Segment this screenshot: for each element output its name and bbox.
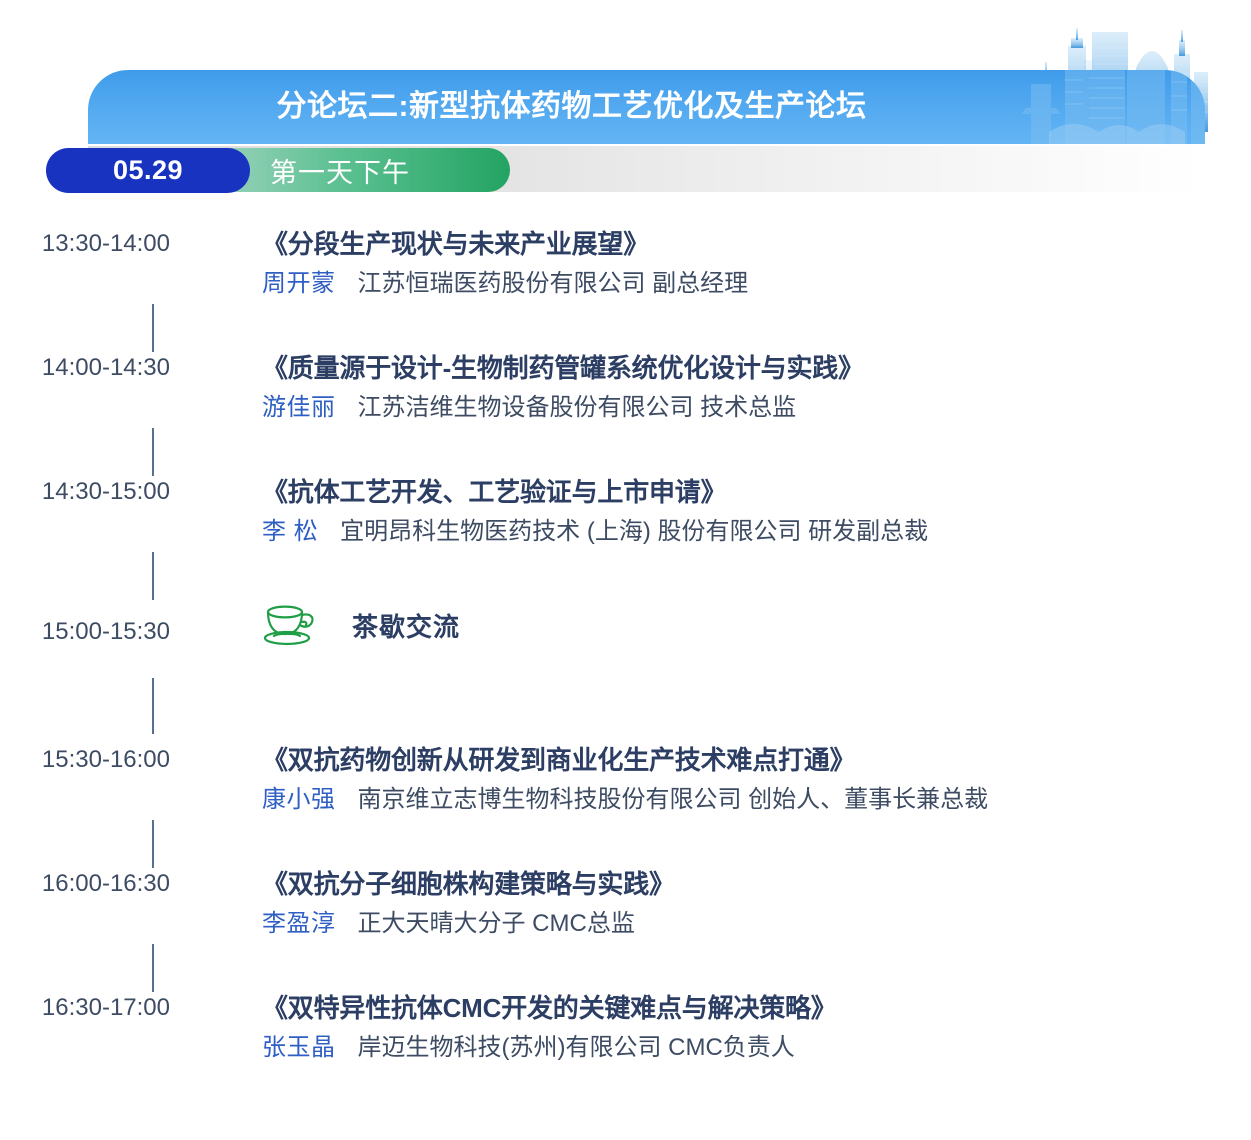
speaker-name: 周开蒙: [262, 270, 336, 297]
agenda-row[interactable]: 14:00-14:30 《质量源于设计-生物制药管罐系统优化设计与实践》 游佳丽…: [0, 352, 1251, 476]
speaker-name: 游佳丽: [262, 394, 336, 421]
speaker-affiliation: 江苏恒瑞医药股份有限公司 副总经理: [358, 270, 749, 297]
agenda-body: 《质量源于设计-生物制药管罐系统优化设计与实践》 游佳丽江苏洁维生物设备股份有限…: [170, 352, 1251, 423]
timeline-connector: [152, 820, 154, 868]
agenda-time: 16:00-16:30: [0, 868, 170, 899]
timeline-connector: [152, 304, 154, 352]
agenda-row[interactable]: 16:30-17:00 《双特异性抗体CMC开发的关键难点与解决策略》 张玉晶岸…: [0, 992, 1251, 1102]
agenda-speaker-line: 张玉晶岸迈生物科技(苏州)有限公司 CMC负责人: [262, 1033, 1251, 1063]
agenda-time: 14:00-14:30: [0, 352, 170, 383]
date-badge-label: 05.29: [46, 148, 250, 193]
forum-title: 分论坛二:新型抗体药物工艺优化及生产论坛: [88, 92, 1205, 122]
agenda-body: 《抗体工艺开发、工艺验证与上市申请》 李 松宜明昂科生物医药技术 (上海) 股份…: [170, 476, 1251, 547]
forum-title-bar: 分论坛二:新型抗体药物工艺优化及生产论坛: [88, 70, 1205, 144]
agenda-row[interactable]: 15:30-16:00 《双抗药物创新从研发到商业化生产技术难点打通》 康小强南…: [0, 744, 1251, 868]
agenda-speaker-line: 游佳丽江苏洁维生物设备股份有限公司 技术总监: [262, 393, 1251, 423]
timeline-connector: [152, 428, 154, 476]
speaker-name: 李 松: [262, 518, 318, 545]
timeline-connector: [152, 552, 154, 600]
speaker-affiliation: 正大天晴大分子 CMC总监: [358, 910, 635, 937]
agenda-time: 15:00-15:30: [0, 600, 170, 647]
agenda-row[interactable]: 16:00-16:30 《双抗分子细胞株构建策略与实践》 李盈淳正大天晴大分子 …: [0, 868, 1251, 992]
agenda-body: 茶歇交流: [170, 600, 460, 648]
speaker-name: 康小强: [262, 786, 336, 813]
agenda-list: 13:30-14:00 《分段生产现状与未来产业展望》 周开蒙江苏恒瑞医药股份有…: [0, 228, 1251, 1102]
agenda-title: 《双抗分子细胞株构建策略与实践》: [262, 868, 1251, 901]
agenda-body: 《分段生产现状与未来产业展望》 周开蒙江苏恒瑞医药股份有限公司 副总经理: [170, 228, 1251, 299]
speaker-affiliation: 宜明昂科生物医药技术 (上海) 股份有限公司 研发副总裁: [340, 518, 928, 545]
agenda-title: 《质量源于设计-生物制药管罐系统优化设计与实践》: [262, 352, 1251, 385]
agenda-speaker-line: 周开蒙江苏恒瑞医药股份有限公司 副总经理: [262, 269, 1251, 299]
agenda-time: 13:30-14:00: [0, 228, 170, 259]
header-banner: 分论坛二:新型抗体药物工艺优化及生产论坛 第一天下午 05.29: [0, 0, 1251, 200]
agenda-row[interactable]: 14:30-15:00 《抗体工艺开发、工艺验证与上市申请》 李 松宜明昂科生物…: [0, 476, 1251, 600]
agenda-speaker-line: 康小强南京维立志博生物科技股份有限公司 创始人、董事长兼总裁: [262, 785, 1251, 815]
timeline-connector: [152, 944, 154, 992]
agenda-row[interactable]: 13:30-14:00 《分段生产现状与未来产业展望》 周开蒙江苏恒瑞医药股份有…: [0, 228, 1251, 352]
speaker-affiliation: 江苏洁维生物设备股份有限公司 技术总监: [358, 394, 797, 421]
break-label: 茶歇交流: [352, 607, 460, 644]
session-label: 第一天下午: [270, 148, 410, 192]
agenda-body: 《双特异性抗体CMC开发的关键难点与解决策略》 张玉晶岸迈生物科技(苏州)有限公…: [170, 992, 1251, 1063]
agenda-title: 《抗体工艺开发、工艺验证与上市申请》: [262, 476, 1251, 509]
agenda-time: 15:30-16:00: [0, 744, 170, 775]
agenda-body: 《双抗分子细胞株构建策略与实践》 李盈淳正大天晴大分子 CMC总监: [170, 868, 1251, 939]
agenda-time: 16:30-17:00: [0, 992, 170, 1023]
agenda-row-break[interactable]: 15:00-15:30 茶歇交流: [0, 600, 1251, 744]
agenda-title: 《双抗药物创新从研发到商业化生产技术难点打通》: [262, 744, 1251, 777]
agenda-time: 14:30-15:00: [0, 476, 170, 507]
speaker-name: 李盈淳: [262, 910, 336, 937]
speaker-affiliation: 岸迈生物科技(苏州)有限公司 CMC负责人: [358, 1034, 795, 1061]
agenda-title: 《分段生产现状与未来产业展望》: [262, 228, 1251, 261]
teacup-icon: [262, 602, 318, 648]
speaker-name: 张玉晶: [262, 1034, 336, 1061]
agenda-speaker-line: 李盈淳正大天晴大分子 CMC总监: [262, 909, 1251, 939]
agenda-body: 《双抗药物创新从研发到商业化生产技术难点打通》 康小强南京维立志博生物科技股份有…: [170, 744, 1251, 815]
timeline-connector: [152, 678, 154, 734]
agenda-speaker-line: 李 松宜明昂科生物医药技术 (上海) 股份有限公司 研发副总裁: [262, 517, 1251, 547]
speaker-affiliation: 南京维立志博生物科技股份有限公司 创始人、董事长兼总裁: [358, 786, 989, 813]
agenda-title: 《双特异性抗体CMC开发的关键难点与解决策略》: [262, 992, 1251, 1025]
